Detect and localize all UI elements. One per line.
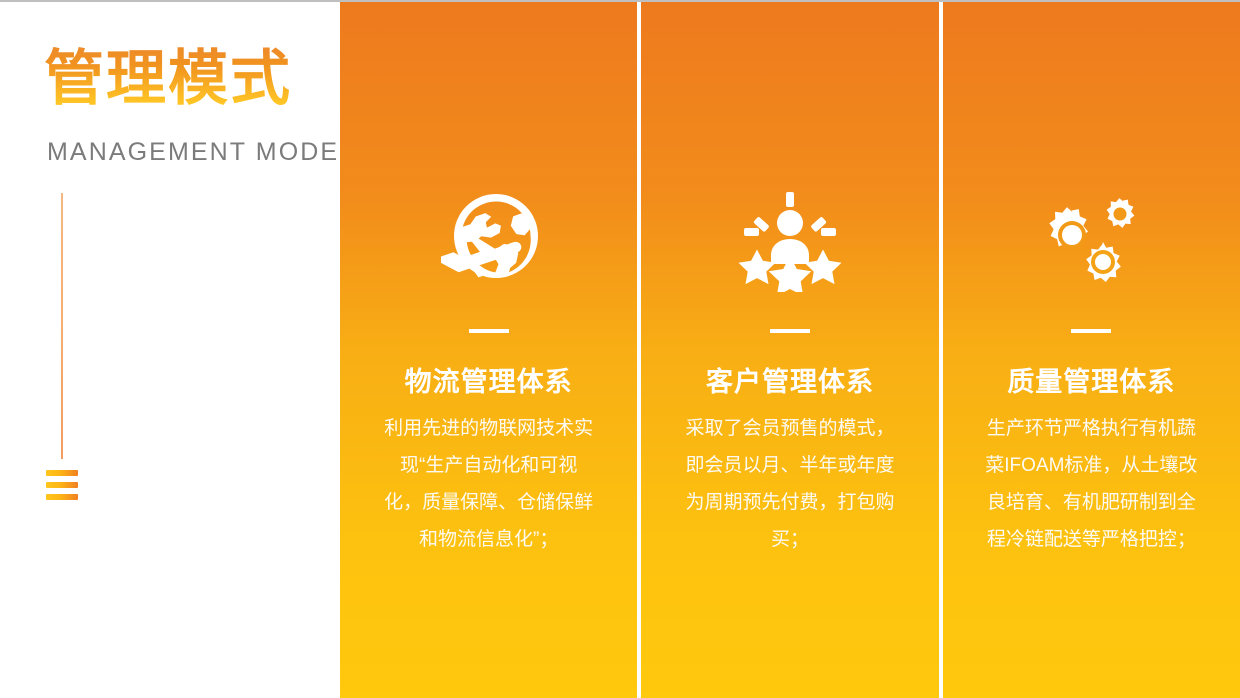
heading-divider xyxy=(469,329,509,333)
column-body-text: 生产环节严格执行有机蔬菜IFOAM标准，从土壤改良培育、有机肥研制到全程冷链配送… xyxy=(985,410,1198,558)
column-heading: 物流管理体系 xyxy=(340,360,637,399)
column-quality[interactable]: 质量管理体系 生产环节严格执行有机蔬菜IFOAM标准，从土壤改良培育、有机肥研制… xyxy=(943,2,1240,698)
page-subtitle: MANAGEMENT MODEL xyxy=(47,138,355,167)
columns-container: 物流管理体系 利用先进的物联网技术实现“生产自动化和可视化，质量保障、仓储保鲜和… xyxy=(340,2,1240,698)
column-logistics[interactable]: 物流管理体系 利用先进的物联网技术实现“生产自动化和可视化，质量保障、仓储保鲜和… xyxy=(340,2,637,698)
hamburger-bar-2 xyxy=(46,482,78,488)
customer-stars-icon xyxy=(641,192,938,292)
gears-icon xyxy=(943,192,1240,292)
hamburger-bar-1 xyxy=(46,470,78,476)
column-customer[interactable]: 客户管理体系 采取了会员预售的模式，即会员以月、半年或年度为周期预先付费，打包购… xyxy=(641,2,938,698)
globe-airplane-icon xyxy=(340,192,637,292)
vertical-divider xyxy=(61,193,63,459)
hamburger-bar-3 xyxy=(46,494,78,500)
page-title: 管理模式 xyxy=(44,47,292,110)
heading-divider xyxy=(1071,329,1111,333)
column-body-text: 利用先进的物联网技术实现“生产自动化和可视化，质量保障、仓储保鲜和物流信息化”； xyxy=(382,410,595,558)
heading-divider xyxy=(770,329,810,333)
column-heading: 客户管理体系 xyxy=(641,360,938,399)
column-heading: 质量管理体系 xyxy=(943,360,1240,399)
slide-canvas: 管理模式 MANAGEMENT MODEL 物流管理体系 xyxy=(0,0,1240,698)
hamburger-icon[interactable] xyxy=(46,470,78,500)
column-body-text: 采取了会员预售的模式，即会员以月、半年或年度为周期预先付费，打包购买； xyxy=(683,410,896,558)
title-panel: 管理模式 MANAGEMENT MODEL xyxy=(0,2,340,698)
